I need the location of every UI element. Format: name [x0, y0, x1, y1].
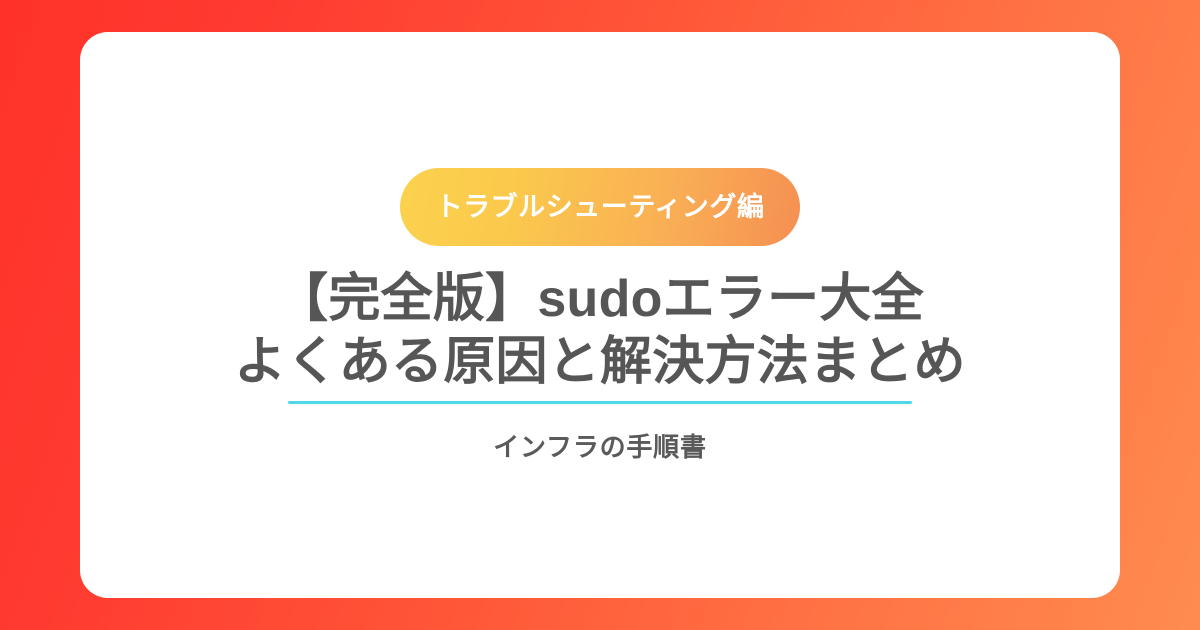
og-image-canvas: トラブルシューティング編 【完全版】sudoエラー大全 よくある原因と解決方法ま…: [0, 0, 1200, 630]
category-badge-label: トラブルシューティング編: [436, 194, 765, 221]
page-title: 【完全版】sudoエラー大全 よくある原因と解決方法まとめ: [234, 268, 966, 395]
title-underline-accent: [288, 401, 912, 404]
category-badge: トラブルシューティング編: [400, 168, 801, 246]
page-title-line-2: よくある原因と解決方法まとめ: [234, 331, 966, 394]
site-name-subtitle: インフラの手順書: [493, 434, 706, 460]
content-card: トラブルシューティング編 【完全版】sudoエラー大全 よくある原因と解決方法ま…: [80, 32, 1120, 598]
page-title-line-1: 【完全版】sudoエラー大全: [276, 268, 924, 331]
